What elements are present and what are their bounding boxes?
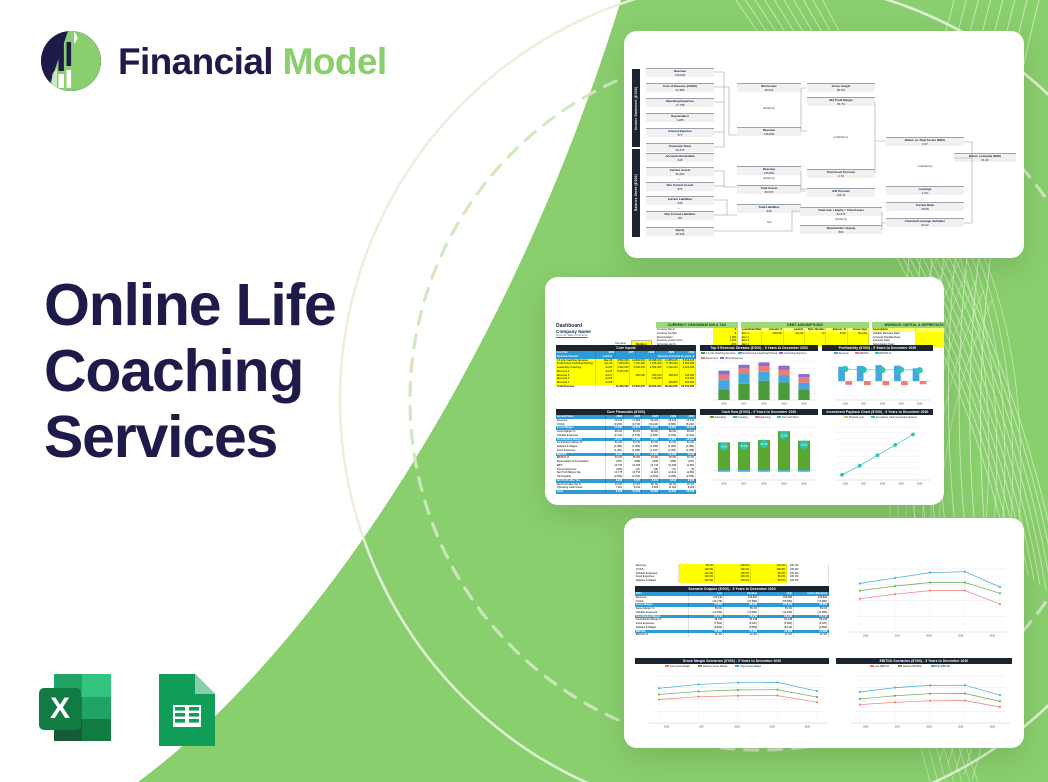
svg-text:2030: 2030 <box>990 635 996 638</box>
chart-legend: Low Gross Margin Medium Gross Margin Hig… <box>665 665 761 668</box>
legend-item: Medium Gross Margin <box>698 665 727 668</box>
table-of-contents-link[interactable]: Go to the Table of Contents <box>556 334 591 337</box>
table-cell: 10,193 <box>678 490 696 494</box>
svg-text:2026: 2026 <box>721 403 727 406</box>
chart-legend: Operating Investing Financing Net Cash F… <box>710 416 798 419</box>
table-cell: Salaries & Wages <box>635 579 679 583</box>
scenario-assumptions-table: Revenue80.0%100.0%120.0%COGS100.0%100.0%… <box>635 564 787 583</box>
dashboard-header: Dashboard Company Name Go to the Table o… <box>556 323 591 337</box>
cash-flow-plot: 202620272028202920308,40410,73310,79110,… <box>700 422 818 486</box>
scenario-active-column: 100.0%100.0%100.0%100.0%100.0% <box>789 564 829 583</box>
svg-text:2030: 2030 <box>917 483 923 486</box>
financial-dashboard-card[interactable]: Dashboard Company Name Go to the Table o… <box>545 277 944 505</box>
table-cell: 42.9% <box>724 633 759 637</box>
table-cell: 80.0% <box>751 579 787 583</box>
financial-model-circle-logo <box>38 28 104 94</box>
revenue-scenarios-chart: 20262027202820292030 <box>836 564 1012 638</box>
brand-word-financial: Financial <box>118 41 273 82</box>
svg-text:2028: 2028 <box>926 726 932 729</box>
svg-text:2029: 2029 <box>898 403 904 406</box>
debt-assumptions-panel: DEBT ASSUMPTIONS Loan/Grant NameAmount, … <box>741 322 869 347</box>
table-cell: 40.1% <box>689 633 724 637</box>
svg-text:2029: 2029 <box>781 403 787 406</box>
table-cell: 27,802,000 <box>630 385 646 389</box>
headline-line-3: Services <box>44 404 336 470</box>
page-title: Online Life Coaching Services <box>44 272 336 470</box>
table-cell: 23,510,000 <box>680 385 696 389</box>
google-sheets-icon <box>143 666 231 754</box>
table-row: EBITDA %40.1%42.9%47.0%42.9% <box>635 633 829 637</box>
svg-text:2030: 2030 <box>805 726 811 729</box>
legend-item: EBITDA % <box>875 352 892 355</box>
ratio-tree-sheet: Income Statement ($'000) Balance Sheet (… <box>624 31 1024 258</box>
revenue-streams-chart: Top 5 Revenue Streams ($'000) - 5 Years … <box>700 345 818 405</box>
table-cell: 47.0% <box>759 633 794 637</box>
svg-text:2027: 2027 <box>861 483 867 486</box>
svg-text:2027: 2027 <box>895 635 901 638</box>
legend-item: Investing <box>733 416 748 419</box>
app-icons: X <box>31 666 231 754</box>
headline-line-2: Coaching <box>44 338 336 404</box>
currency-denomination-panel: CURRENCY DENOMINATION & TAX Currency Nam… <box>656 322 738 347</box>
table-row: 100.0% <box>789 579 829 583</box>
svg-text:2027: 2027 <box>861 403 867 406</box>
core-inputs-panel: Core Inputs Cost Tax20262027202820292030… <box>556 345 696 389</box>
cash-flow-chart: Cash flow ($'000) - 5 Years to December … <box>700 409 818 487</box>
svg-text:10,791: 10,791 <box>760 444 768 446</box>
table-cell: 10,997 <box>642 490 660 494</box>
chart-legend: Payback year Cumulative Cash Generated (… <box>844 416 917 419</box>
dashboard-sheet: Dashboard Company Name Go to the Table o… <box>545 277 944 505</box>
chart-legend: Revenue EBITDA EBITDA % <box>834 352 891 355</box>
svg-text:10,104: 10,104 <box>780 435 788 437</box>
svg-text:2026: 2026 <box>863 635 869 638</box>
svg-text:2026: 2026 <box>843 483 849 486</box>
table-cell: 28,232,000 <box>663 385 679 389</box>
brand-wordmark: Financial Model <box>118 43 387 80</box>
svg-text:2029: 2029 <box>898 483 904 486</box>
svg-text:2027: 2027 <box>895 726 901 729</box>
gross-margin-plot: 20262027202820292030 <box>635 671 829 729</box>
svg-text:2028: 2028 <box>761 403 767 406</box>
svg-text:2029: 2029 <box>781 483 787 486</box>
legend-item: Low Gross Margin <box>665 665 690 668</box>
profitability-chart: Profitability ($'000) - 5 Years to Decem… <box>822 345 933 405</box>
legend-item: High EBITDA <box>931 665 951 668</box>
microsoft-excel-icon: X <box>31 666 119 754</box>
legend-item: EBITDA <box>855 352 869 355</box>
scenario-sheet: Revenue80.0%100.0%120.0%COGS100.0%100.0%… <box>624 518 1024 748</box>
svg-text:2026: 2026 <box>863 726 869 729</box>
table-cell: 29,263,000 <box>647 385 663 389</box>
svg-text:2030: 2030 <box>990 726 996 729</box>
svg-text:2027: 2027 <box>741 403 747 406</box>
svg-text:2028: 2028 <box>880 403 886 406</box>
legend-item: Medium EBITDA <box>898 665 921 668</box>
legend-item: Cumulative Cash Generated (losses) <box>871 416 917 419</box>
svg-text:2028: 2028 <box>880 483 886 486</box>
table-cell: 42.9% <box>794 633 829 637</box>
working-capital-panel: WORKING CAPITAL & DEPRECIATION Assumptio… <box>872 322 944 347</box>
legend-item: Financing <box>755 416 771 419</box>
svg-text:2028: 2028 <box>926 635 932 638</box>
svg-text:10,733: 10,733 <box>740 446 748 448</box>
ebitda-plot: 20262027202820292030 <box>836 671 1012 729</box>
svg-text:2030: 2030 <box>801 483 807 486</box>
table-cell: 100.0% <box>789 579 829 583</box>
svg-text:2029: 2029 <box>770 726 776 729</box>
table-cell: EBITDA % <box>635 633 689 637</box>
poster-canvas: Financial Model Online Life Coaching Ser… <box>0 0 1048 782</box>
scenario-outputs-panel: Scenario Outputs ($'000) - 5 Years to De… <box>635 586 829 637</box>
legend-item: Consulting Services <box>779 352 806 355</box>
scenario-analysis-card[interactable]: Revenue80.0%100.0%120.0%COGS100.0%100.0%… <box>624 518 1024 748</box>
profitability-plot: 20262027202820292030 <box>822 358 933 406</box>
table-row: Salaries & Wages120.0%100.0%80.0% <box>635 579 787 583</box>
svg-text:2026: 2026 <box>721 483 727 486</box>
svg-text:2028: 2028 <box>734 726 740 729</box>
revenue-scenarios-plot: 20262027202820292030 <box>836 564 1012 638</box>
table-cell: 26,430,000 <box>614 385 630 389</box>
legend-item: Net Cash Flow <box>777 416 798 419</box>
table-cell: 10,356 <box>624 490 642 494</box>
investment-payback-plot: 20262027202820292030 <box>822 422 933 486</box>
brand-word-model: Model <box>283 41 387 82</box>
diagram-connectors <box>624 31 1024 258</box>
legend-item: High Gross Margin <box>735 665 761 668</box>
investment-payback-chart: Investment Payback Chart ($'000) - 5 Yea… <box>822 409 933 487</box>
svg-text:8,737: 8,737 <box>801 445 807 447</box>
table-cell: Total Revenue <box>556 385 596 389</box>
svg-text:8,404: 8,404 <box>721 446 727 448</box>
svg-text:2027: 2027 <box>741 483 747 486</box>
svg-text:2028: 2028 <box>761 483 767 486</box>
svg-text:2026: 2026 <box>664 726 670 729</box>
svg-text:2030: 2030 <box>917 403 923 406</box>
table-row: Cash8,40810,35610,99714,09010,193 <box>556 490 696 494</box>
revenue-streams-plot: 20262027202820292030 <box>700 358 818 406</box>
table-cell <box>596 385 614 389</box>
ebitda-scenarios-chart: EBITDA Scenarios ($'000) - 5 Years to De… <box>836 658 1012 730</box>
svg-text:2030: 2030 <box>801 403 807 406</box>
table-cell: 100.0% <box>715 579 751 583</box>
legend-item: Operating <box>710 416 726 419</box>
legend-item: Low EBITDA <box>870 665 889 668</box>
svg-text:2029: 2029 <box>958 635 964 638</box>
table-row: Total Revenue26,430,00027,802,00029,263,… <box>556 385 696 389</box>
svg-text:2027: 2027 <box>699 726 705 729</box>
table-cell: 120.0% <box>679 579 715 583</box>
dupont-financial-ratios-diagram-card[interactable]: Income Statement ($'000) Balance Sheet (… <box>624 31 1024 258</box>
core-financials-panel: Core Financials ($'000) Annual Flows2026… <box>556 409 696 494</box>
legend-item: Small Group Coaching/Training <box>738 352 778 355</box>
legend-item: Payback year <box>844 416 864 419</box>
chart-legend: Low EBITDA Medium EBITDA High EBITDA <box>870 665 950 668</box>
legend-item: Revenue <box>834 352 849 355</box>
headline-line-1: Online Life <box>44 272 336 338</box>
table-cell: Cash <box>556 490 606 494</box>
legend-item: 1:1 Life Coaching Services <box>701 352 736 355</box>
table-cell: 14,090 <box>660 490 678 494</box>
table-cell: 8,408 <box>606 490 624 494</box>
gross-margin-scenarios-chart: Gross Margin Scenarios ($'000) - 5 Years… <box>635 658 829 730</box>
svg-text:2026: 2026 <box>843 403 849 406</box>
brand-lockup: Financial Model <box>38 28 387 94</box>
svg-text:2029: 2029 <box>958 726 964 729</box>
svg-text:X: X <box>50 692 70 725</box>
